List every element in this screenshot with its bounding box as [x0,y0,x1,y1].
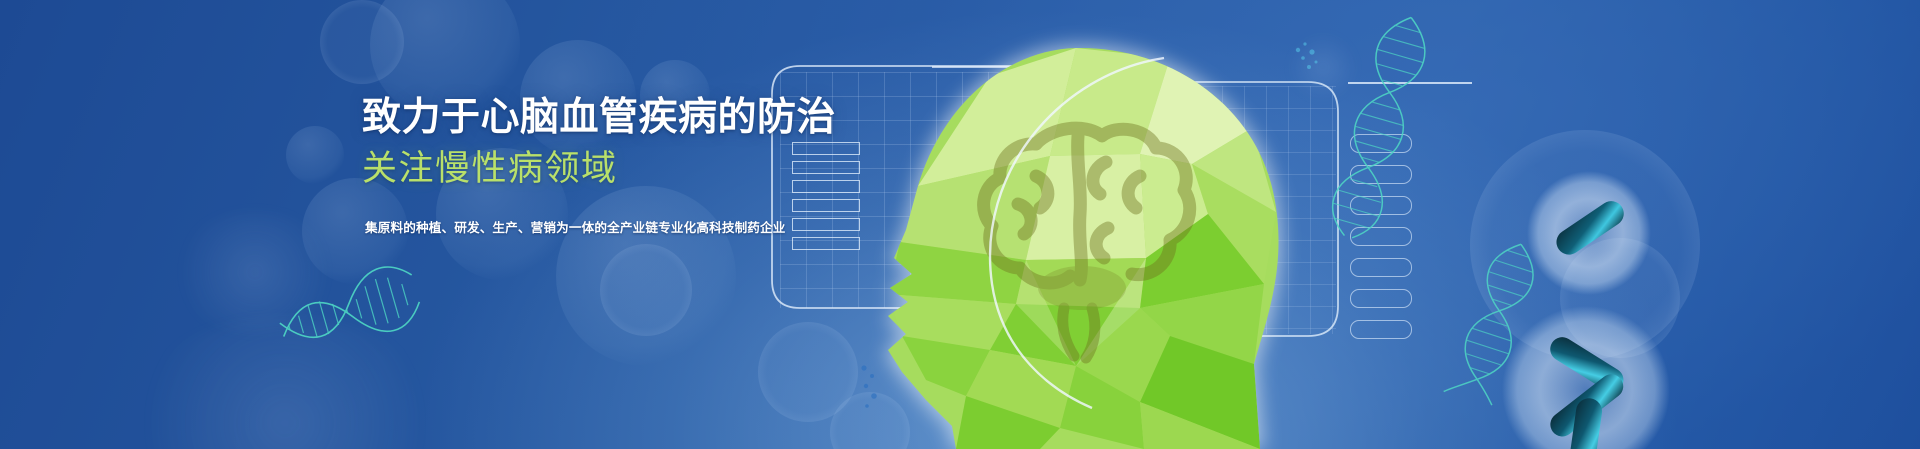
hud-pill [1350,289,1412,308]
hud-pill [1350,196,1412,215]
bokeh-circle [120,318,450,449]
page-title: 致力于心脑血管疾病的防治 [362,96,782,140]
hud-pill [1350,165,1412,184]
page-tagline: 集原料的种植、研发、生产、营销为一体的全产业链专业化高科技制药企业 [365,217,782,236]
dna-double-helix-icon [260,233,435,380]
hero-copy: 致力于心脑血管疾病的防治 关注慢性病领域 集原料的种植、研发、生产、营销为一体的… [362,96,782,236]
hero-banner: 致力于心脑血管疾病的防治 关注慢性病领域 集原料的种植、研发、生产、营销为一体的… [0,0,1920,449]
hud-pill [1350,227,1412,246]
bokeh-circle [320,0,404,84]
bokeh-circle [600,244,692,336]
hud-pill [1350,134,1412,153]
hud-accent-line [1348,82,1472,84]
hud-pill [1350,258,1412,277]
bokeh-circle [286,126,344,184]
bokeh-circle [1470,130,1700,360]
cell-with-bacterium-icon [1486,290,1686,449]
bokeh-circle [1560,238,1680,358]
page-subtitle: 关注慢性病领域 [362,149,782,188]
head-outline-arc [940,52,1180,412]
dna-double-helix-icon [1297,0,1454,252]
hud-pill [1350,320,1412,339]
cell-with-bacterium-icon [1514,158,1664,308]
dna-double-helix-icon [1428,227,1562,415]
bokeh-circle [170,212,340,332]
